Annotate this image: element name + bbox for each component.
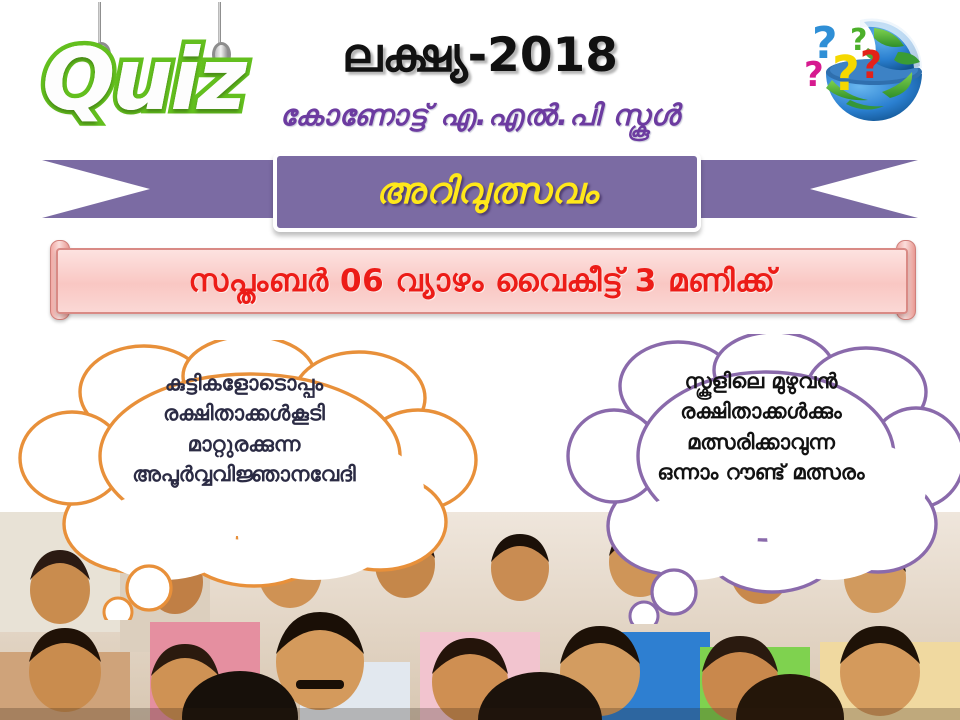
thought-bubble-right: സ്കൂളിലെ മുഴുവൻ രക്ഷിതാക്കൾക്കും മത്സരിക… [566,334,960,624]
date-time-text: സപ്തംബർ 06 വ്യാഴം വൈകീട്ട് 3 മണിക്ക് [189,263,776,300]
bubble-right-text: സ്കൂളിലെ മുഴുവൻ രക്ഷിതാക്കൾക്കും മത്സരിക… [566,366,956,488]
bubble-left-text: കുട്ടികളോടൊപ്പം രക്ഷിതാക്കള്‍കൂടി മാറ്റു… [14,368,474,490]
ribbon-title-text: അറിവുത്സവം [376,171,599,213]
bubble-left-line-1: കുട്ടികളോടൊപ്പം [14,368,474,398]
school-name: കോണോട്ട് എ.എല്‍.പി സ്കൂള്‍ [0,98,960,133]
bubble-left-line-4: അപൂര്‍വ്വവിജ്ഞാനവേദി [14,459,474,489]
bubble-right-line-2: രക്ഷിതാക്കൾക്കും [566,396,956,426]
date-time-banner: സപ്തംബർ 06 വ്യാഴം വൈകീട്ട് 3 മണിക്ക് [56,248,908,314]
bubble-right-line-1: സ്കൂളിലെ മുഴുവൻ [566,366,956,396]
thought-bubble-left: കുട്ടികളോടൊപ്പം രക്ഷിതാക്കള്‍കൂടി മാറ്റു… [14,340,484,620]
quiz-event-poster: Quiz Quiz [0,0,960,720]
bubble-left-line-3: മാറ്റുരക്കുന്ന [14,429,474,459]
poster-title: ലക്ഷ്യ-2018 [0,28,960,84]
bubble-left-line-2: രക്ഷിതാക്കള്‍കൂടി [14,398,474,428]
ribbon-title-plate: അറിവുത്സവം [273,152,701,232]
bubble-right-line-4: ഒന്നാം റൗണ്ട് മത്സരം [566,457,956,487]
bubble-right-line-3: മത്സരിക്കാവുന്ന [566,427,956,457]
